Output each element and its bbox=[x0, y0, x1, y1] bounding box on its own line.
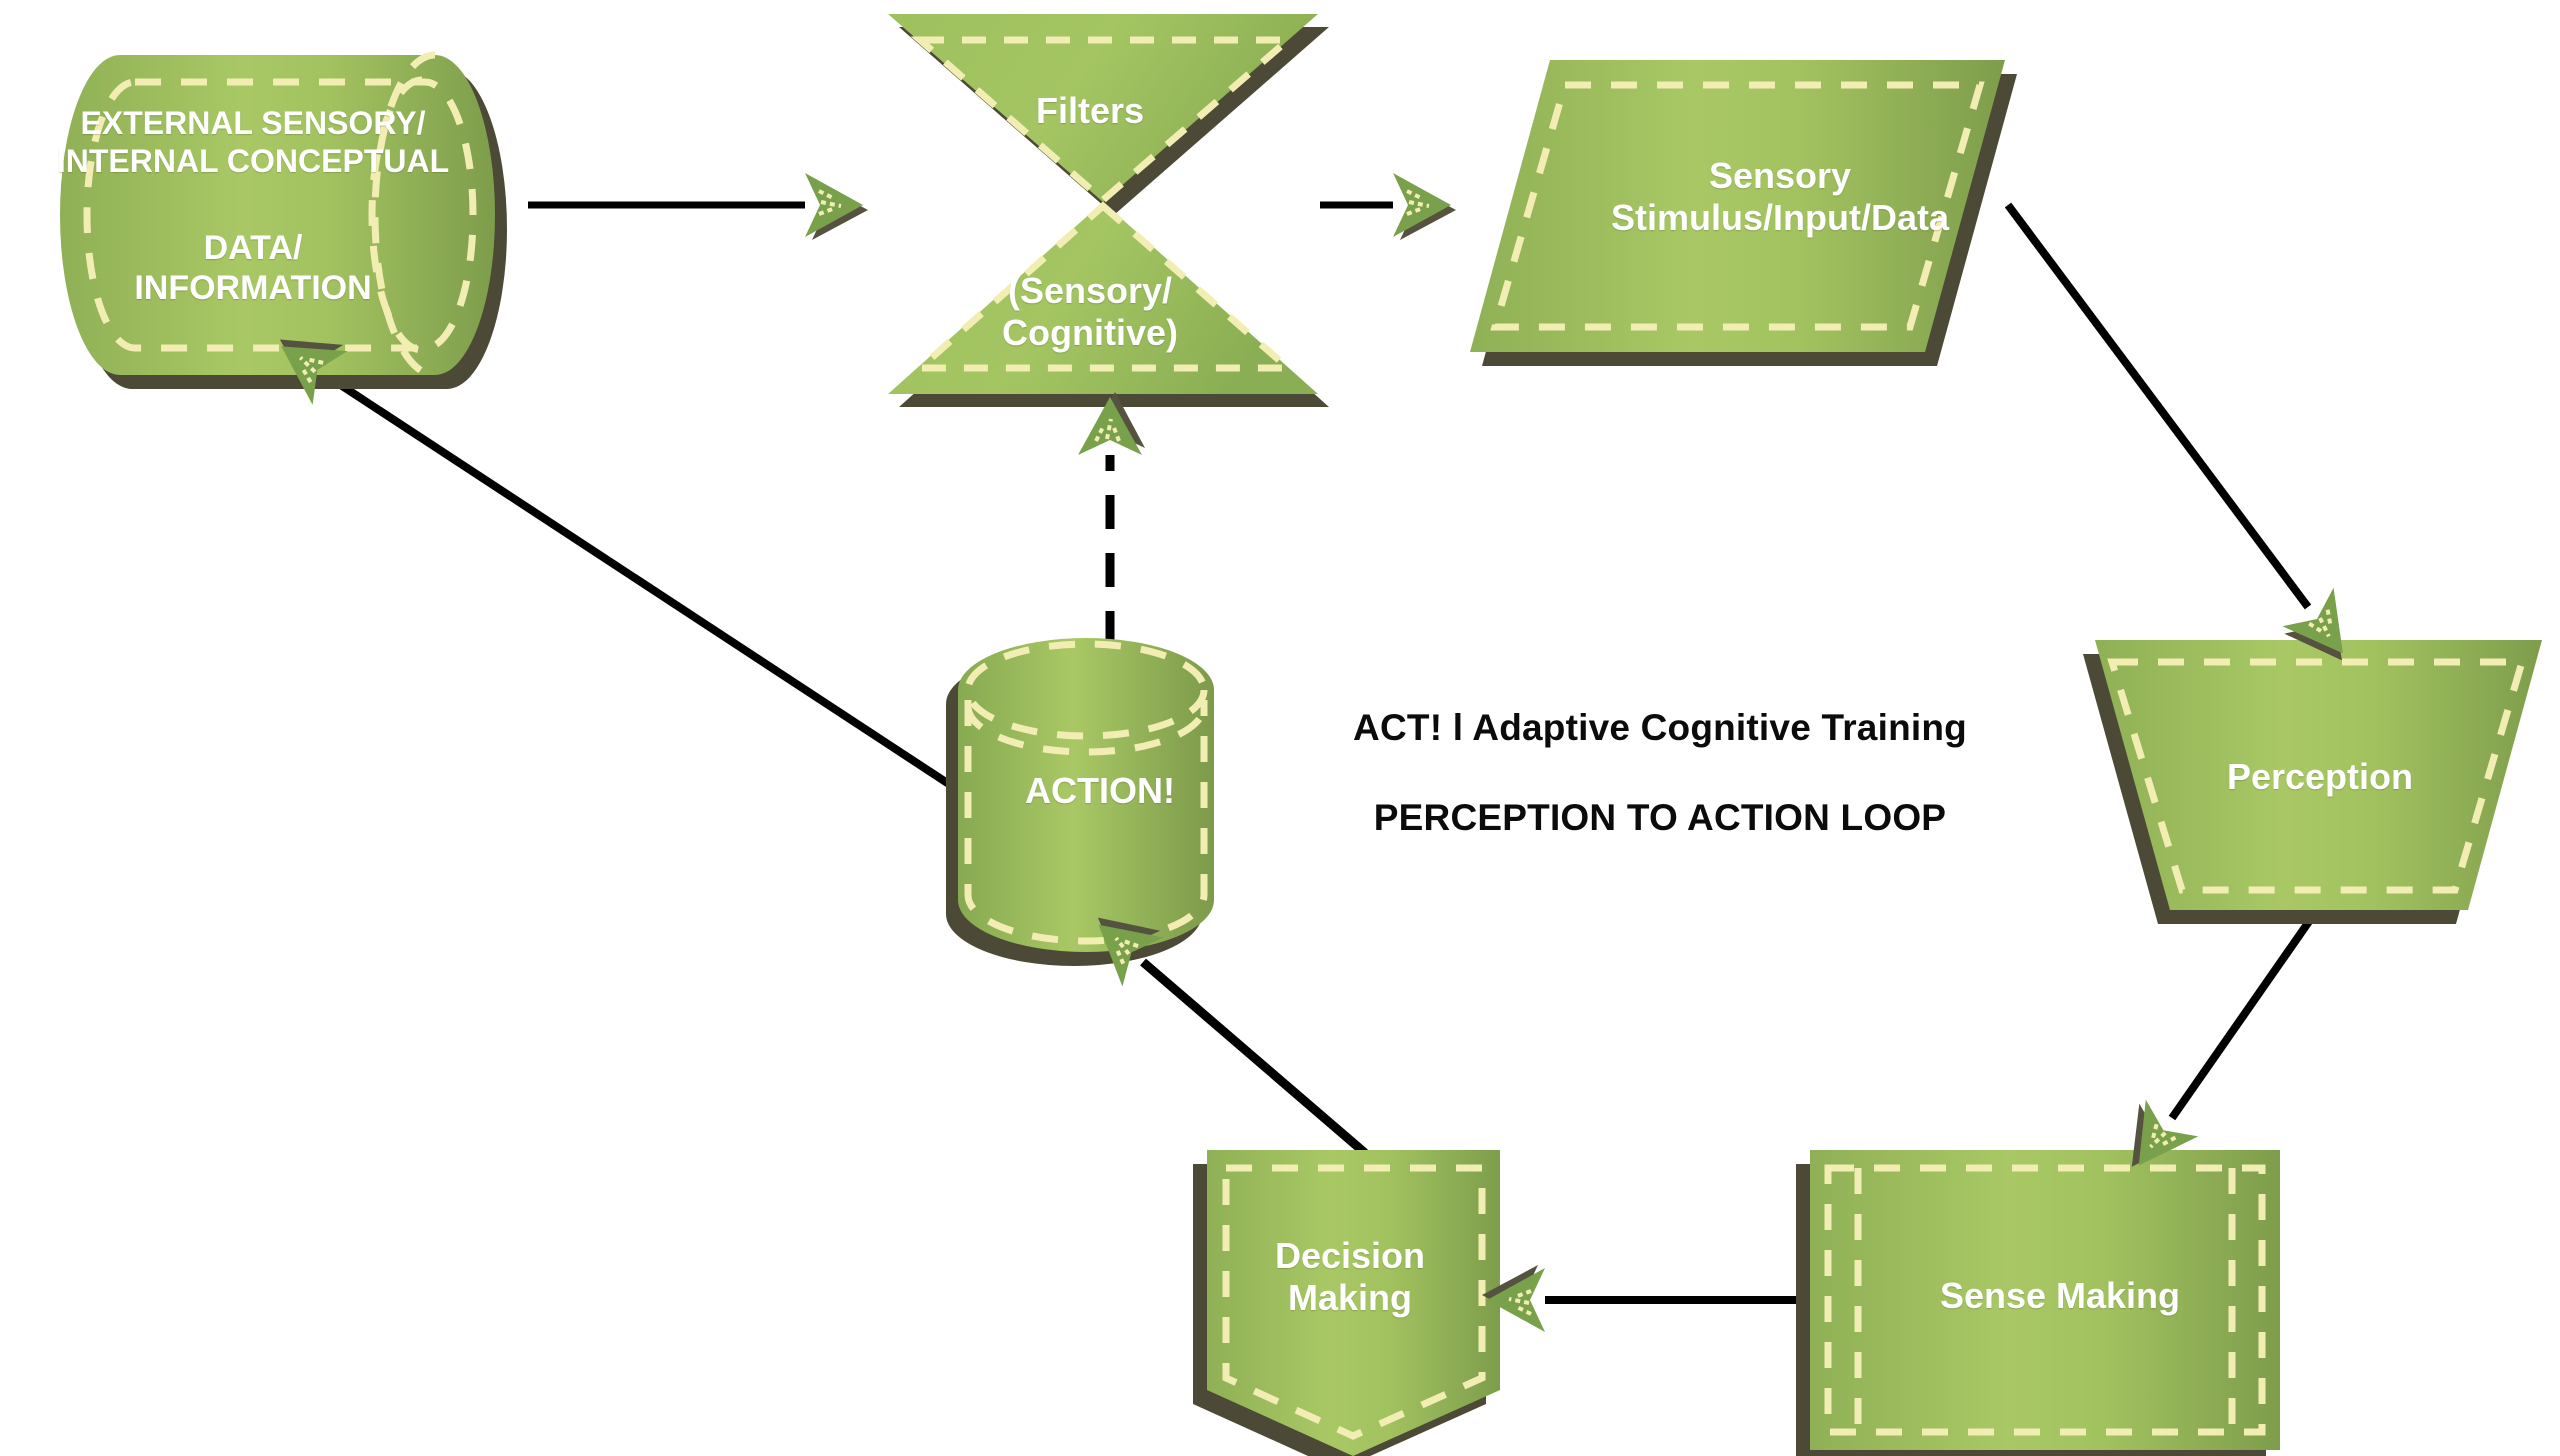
perception-body bbox=[2095, 640, 2542, 910]
connector-sensory-to-perception bbox=[2008, 205, 2308, 607]
connector-action-to-data bbox=[330, 378, 958, 790]
connector-perception-to-sense-making bbox=[2172, 910, 2317, 1118]
data-store-body bbox=[60, 55, 495, 375]
diagram-canvas: EXTERNAL SENSORY/ INTERNAL CONCEPTUAL DA… bbox=[0, 0, 2560, 1456]
arrowhead-filters-to-sensory bbox=[1393, 173, 1456, 240]
diagram-title-secondary: PERCEPTION TO ACTION LOOP bbox=[1330, 797, 1990, 839]
connector-lines bbox=[330, 205, 2317, 1300]
diagram-title-primary: ACT! l Adaptive Cognitive Training bbox=[1330, 707, 1990, 749]
sensory-stimulus-body bbox=[1470, 60, 2005, 352]
node-sense-making[interactable] bbox=[1796, 1150, 2280, 1456]
node-filters[interactable] bbox=[888, 14, 1329, 407]
node-data-store[interactable] bbox=[60, 55, 507, 389]
arrowhead-data-to-filters bbox=[805, 173, 868, 240]
node-decision-making[interactable] bbox=[1193, 1150, 1500, 1456]
node-action[interactable] bbox=[946, 638, 1214, 966]
action-body bbox=[958, 638, 1214, 952]
connector-decision-to-action bbox=[1143, 962, 1365, 1153]
node-perception[interactable] bbox=[2083, 640, 2542, 924]
node-sensory-stimulus[interactable] bbox=[1470, 60, 2017, 366]
perception-to-action-loop-svg bbox=[0, 0, 2560, 1456]
sense-making-body bbox=[1810, 1150, 2280, 1450]
